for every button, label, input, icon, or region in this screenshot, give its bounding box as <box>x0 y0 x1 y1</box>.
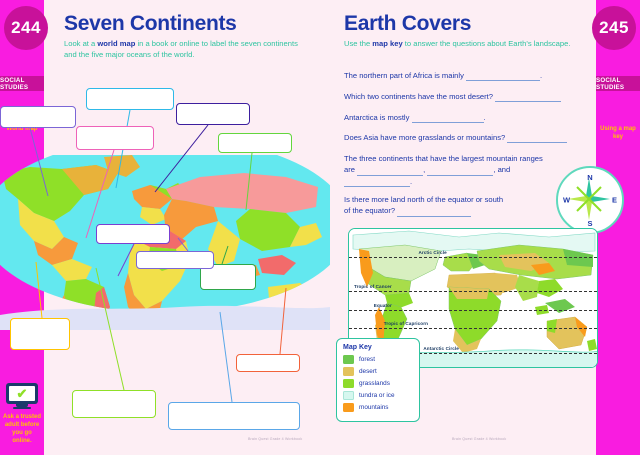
map-key: Map Key forestdesertgrasslandstundra or … <box>336 338 420 422</box>
question-1: The northern part of Africa is mainly . <box>344 70 592 81</box>
question-5-are: are <box>344 165 355 174</box>
label-box-10[interactable] <box>72 390 156 418</box>
question-5-text: The three continents that have the large… <box>344 154 543 163</box>
subtitle-pre-right: Use the <box>344 39 372 48</box>
page-subtitle-left: Look at a world map in a book or online … <box>64 38 312 60</box>
map-key-label-mountains: mountains <box>359 404 389 411</box>
label-box-9[interactable] <box>136 251 214 269</box>
map-key-swatch-grasslands <box>343 379 354 388</box>
label-box-8[interactable] <box>10 318 70 350</box>
page-number-right: 245 <box>592 6 636 50</box>
map-key-swatch-desert <box>343 367 354 376</box>
latitude-label-1: Arctic Circle <box>418 250 446 255</box>
label-box-11[interactable] <box>168 402 300 430</box>
latitude-line-3 <box>349 310 597 311</box>
label-box-3[interactable] <box>76 126 154 150</box>
question-6: Is there more land north of the equator … <box>344 194 592 217</box>
map-key-item-tundra-or-ice: tundra or ice <box>343 391 413 400</box>
answer-line-2[interactable] <box>495 94 561 102</box>
label-box-1[interactable] <box>86 88 174 110</box>
compass-north: N <box>587 173 592 182</box>
compass-east: E <box>612 196 617 205</box>
compass-rose-icon: N S W E <box>556 166 624 234</box>
page-subtitle-right: Use the map key to answer the questions … <box>344 38 574 49</box>
latitude-line-4 <box>349 328 597 329</box>
map-key-label-forest: forest <box>359 356 375 363</box>
compass-south: S <box>587 219 592 228</box>
question-4: Does Asia have more grasslands or mounta… <box>344 132 592 143</box>
trusted-adult-text: Ask a trusted adult before you go online… <box>0 413 44 445</box>
q5-and: , and <box>493 165 510 174</box>
question-1-text: The northern part of Africa is mainly <box>344 71 464 80</box>
question-1-after: . <box>540 71 542 80</box>
answer-line-3[interactable] <box>412 115 484 123</box>
answer-line-5c[interactable] <box>344 179 410 187</box>
workbook-spread: 244 SOCIAL STUDIES World map ✔ Ask a tru… <box>0 0 640 455</box>
map-key-swatch-mountains <box>343 403 354 412</box>
question-2: Which two continents have the most deser… <box>344 91 592 102</box>
subtitle-bold-left: world map <box>97 39 135 48</box>
monitor-check-icon: ✔ <box>6 383 38 409</box>
q5-period: . <box>410 177 412 186</box>
footer-left: Brain Quest Grade 4 Workbook <box>248 437 302 441</box>
footer-right: Brain Quest Grade 4 Workbook <box>452 437 506 441</box>
question-3-after: . <box>484 113 486 122</box>
map-key-item-grasslands: grasslands <box>343 379 413 388</box>
latitude-label-3: Equator <box>374 303 392 308</box>
answer-line-5b[interactable] <box>427 168 493 176</box>
subject-band-left: SOCIAL STUDIES <box>0 76 44 91</box>
question-3-text: Antarctica is mostly <box>344 113 409 122</box>
map-key-item-forest: forest <box>343 355 413 364</box>
trusted-adult-badge: ✔ Ask a trusted adult before you go onli… <box>0 383 44 445</box>
map-key-label-tundra-or-ice: tundra or ice <box>359 392 395 399</box>
map-key-item-mountains: mountains <box>343 403 413 412</box>
question-3: Antarctica is mostly . <box>344 112 592 123</box>
latitude-line-1 <box>349 257 597 258</box>
page-number-left: 244 <box>4 6 48 50</box>
side-caption-right: Using a map key <box>596 126 640 142</box>
label-box-12[interactable] <box>236 354 300 372</box>
page-title-left: Seven Continents <box>64 12 237 36</box>
label-box-4[interactable] <box>176 103 250 125</box>
map-key-item-desert: desert <box>343 367 413 376</box>
label-box-5[interactable] <box>218 133 292 153</box>
answer-line-4[interactable] <box>507 135 567 143</box>
label-box-2[interactable] <box>0 106 76 128</box>
subtitle-bold-right: map key <box>372 39 402 48</box>
question-6-text: Is there more land north of the equator … <box>344 195 503 204</box>
page-title-right: Earth Covers <box>344 12 471 36</box>
question-4-text: Does Asia have more grasslands or mounta… <box>344 133 505 142</box>
answer-line-6[interactable] <box>397 209 471 217</box>
subtitle-pre-left: Look at a <box>64 39 97 48</box>
latitude-label-5: Antarctic Circle <box>423 346 459 351</box>
subject-band-right: SOCIAL STUDIES <box>596 76 640 91</box>
map-key-swatch-tundra-or-ice <box>343 391 354 400</box>
q5-comma: , <box>423 165 425 174</box>
compass-west: W <box>563 196 570 205</box>
latitude-label-4: Tropic of Capricorn <box>384 321 428 326</box>
map-key-label-grasslands: grasslands <box>359 380 390 387</box>
map-key-label-desert: desert <box>359 368 377 375</box>
answer-line-5a[interactable] <box>357 168 423 176</box>
map-key-swatch-forest <box>343 355 354 364</box>
map-key-title: Map Key <box>343 344 413 351</box>
question-6-line2: of the equator? <box>344 206 395 215</box>
answer-line-1[interactable] <box>466 73 540 81</box>
latitude-label-2: Tropic of Cancer <box>354 284 392 289</box>
latitude-line-2 <box>349 291 597 292</box>
label-box-6[interactable] <box>96 224 170 244</box>
map-key-rows: forestdesertgrasslandstundra or icemount… <box>343 355 413 412</box>
question-2-text: Which two continents have the most deser… <box>344 92 493 101</box>
question-5: The three continents that have the large… <box>344 153 592 187</box>
subtitle-post-right: to answer the questions about Earth's la… <box>403 39 571 48</box>
